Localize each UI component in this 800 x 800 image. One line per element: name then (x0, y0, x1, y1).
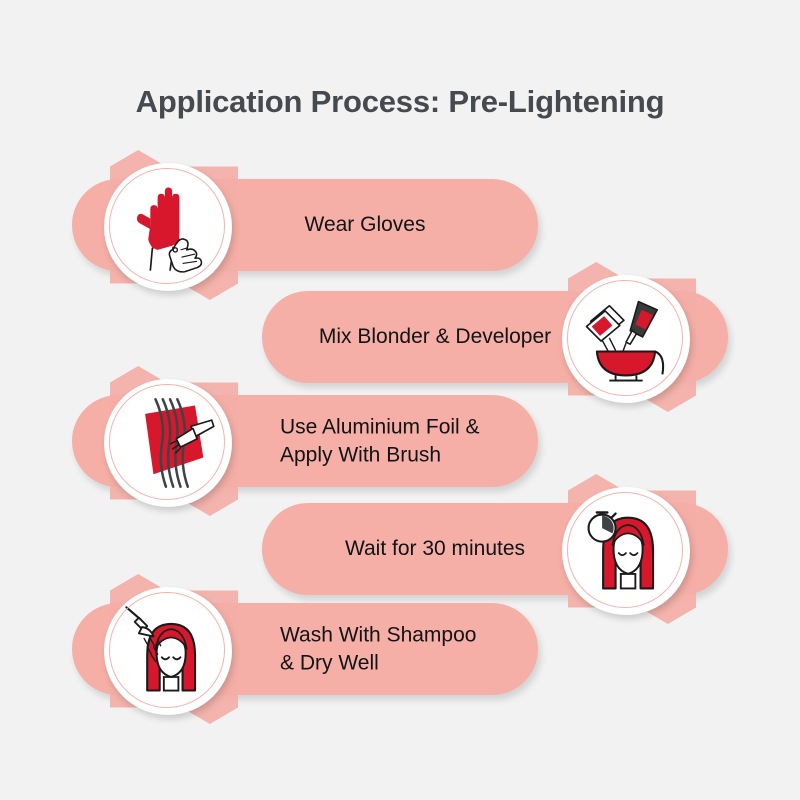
step-row-5: Wash With Shampoo & Dry Well (0, 574, 800, 724)
step-label-5: Wash With Shampoo & Dry Well (280, 621, 476, 676)
page-title: Application Process: Pre-Lightening (0, 84, 800, 120)
step-label-3: Use Aluminium Foil & Apply With Brush (280, 413, 480, 468)
step-badge-5[interactable] (104, 574, 244, 724)
infographic-canvas: Application Process: Pre-Lightening Wear… (0, 0, 800, 800)
shower-woman-icon (116, 599, 220, 703)
badge-circle (104, 587, 232, 715)
